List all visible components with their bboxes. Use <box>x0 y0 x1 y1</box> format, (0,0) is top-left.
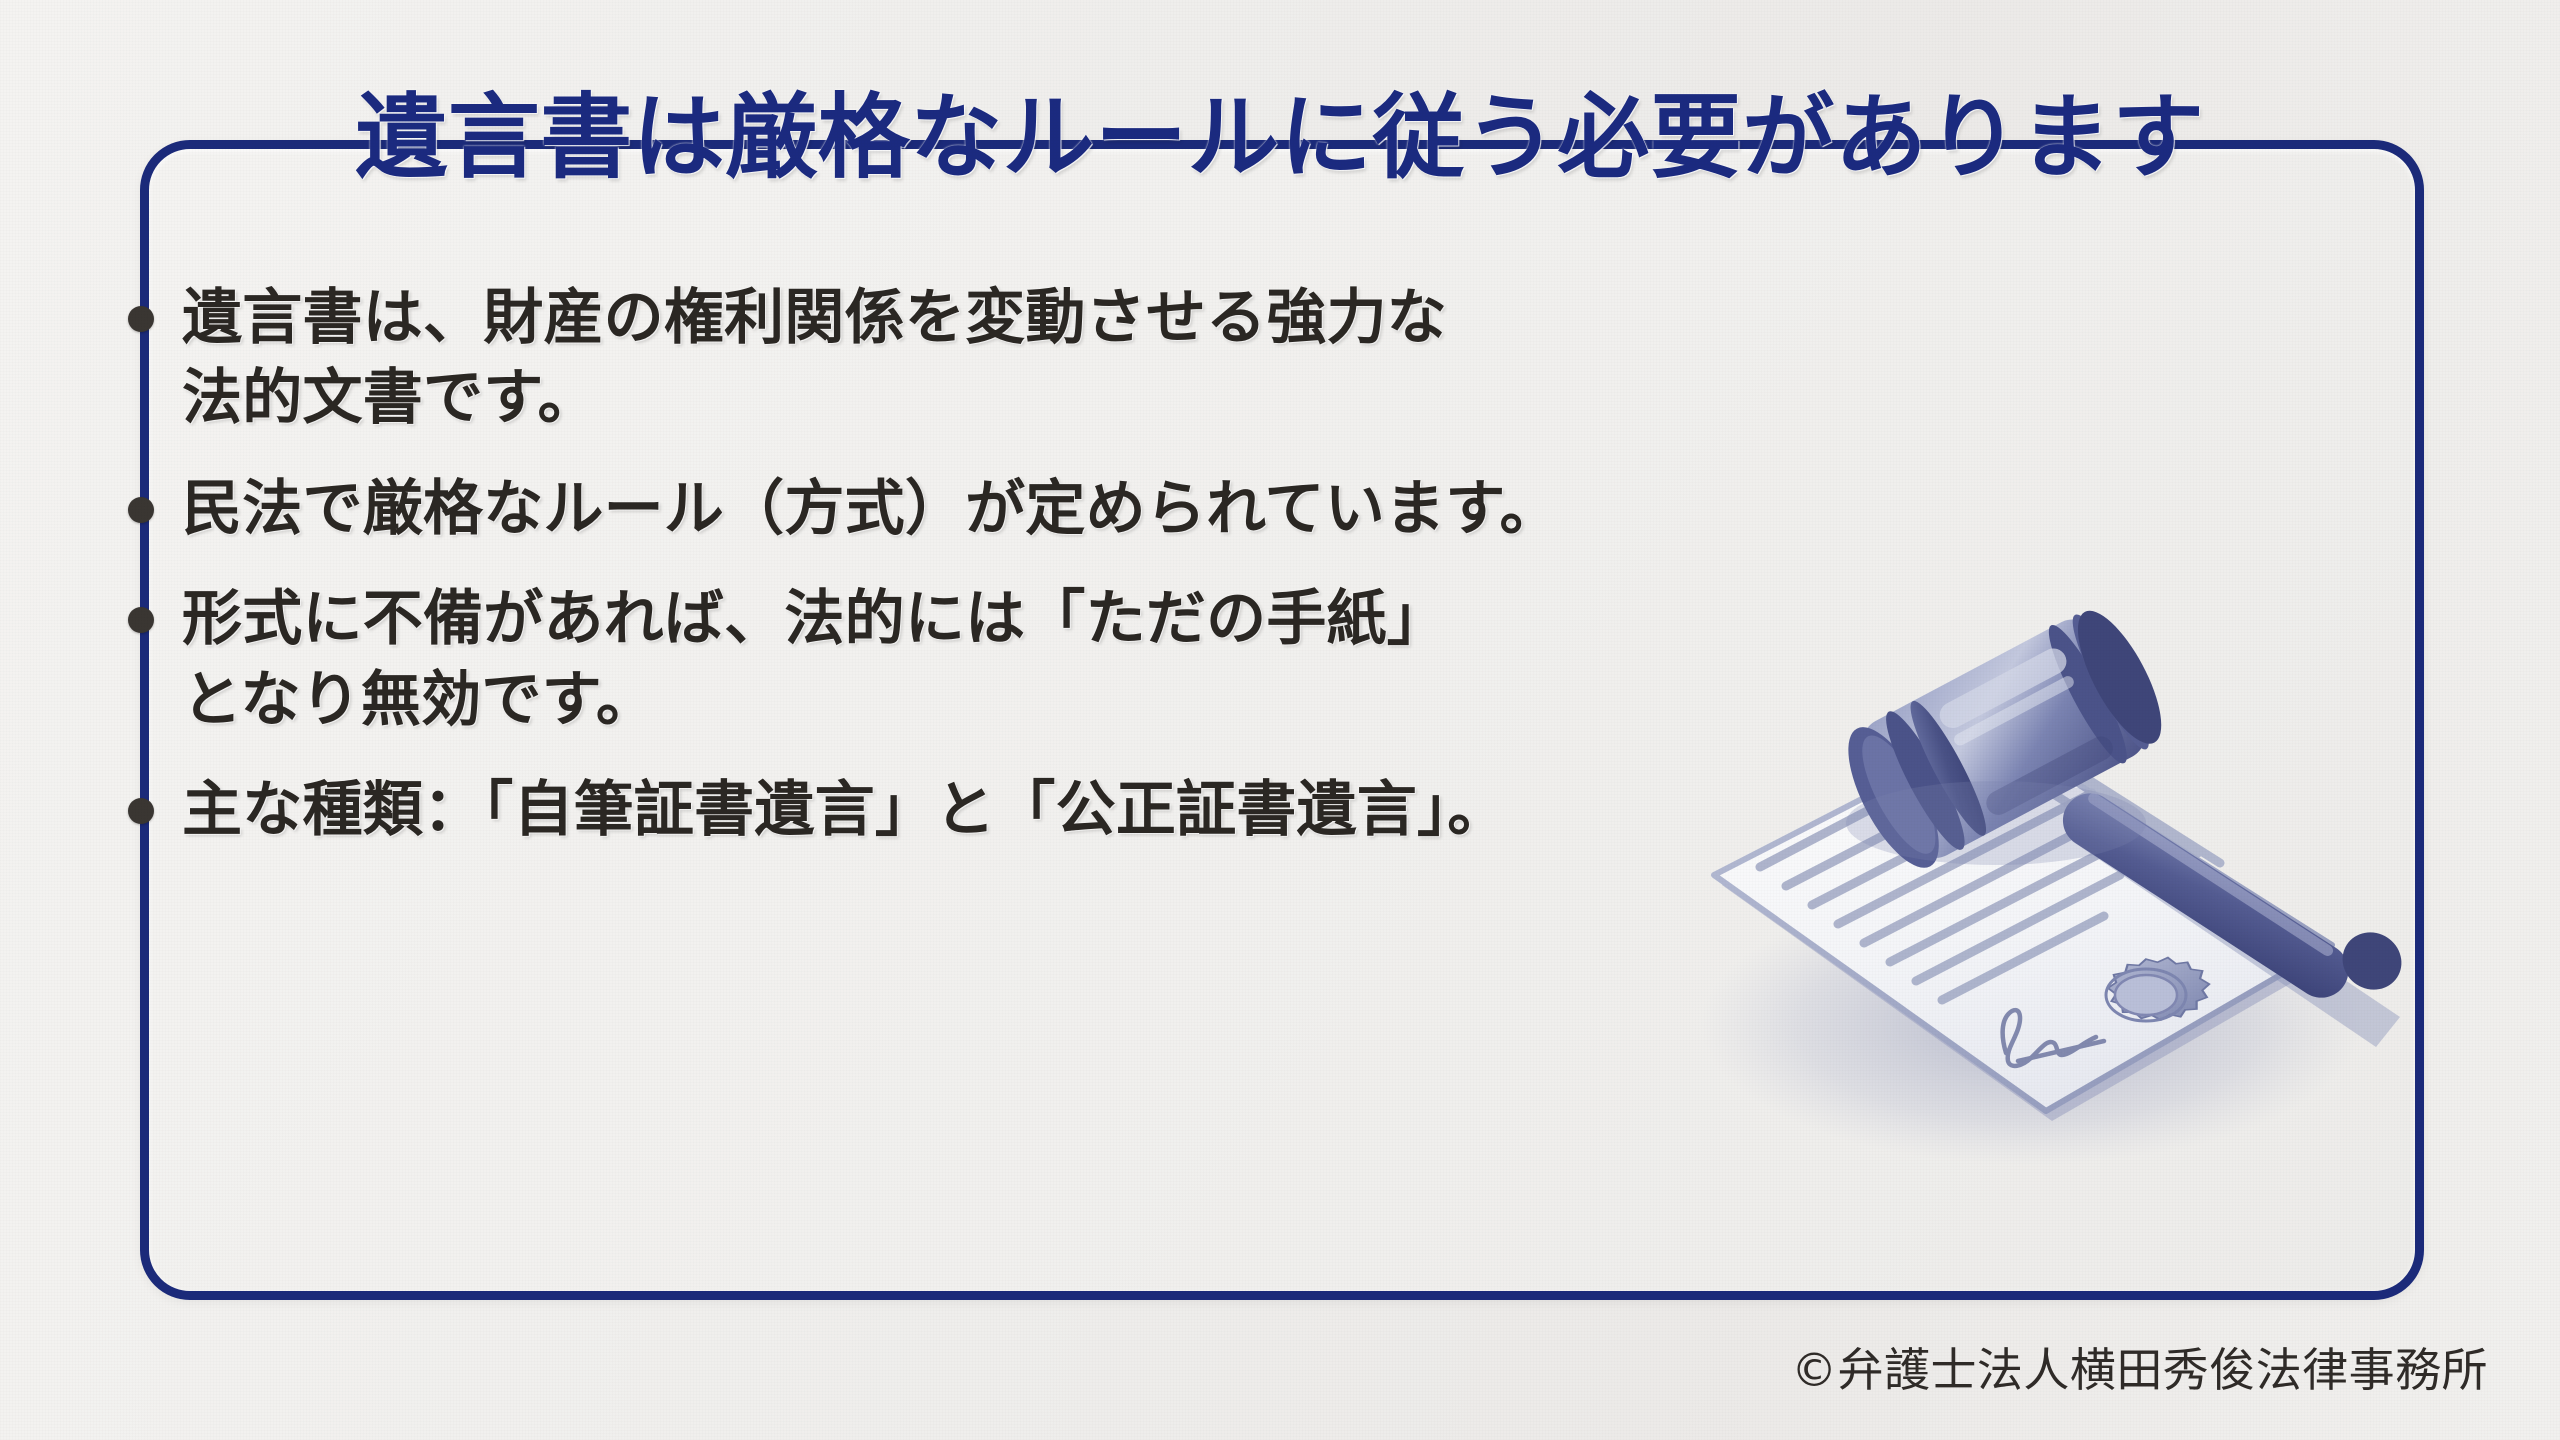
slide-canvas: 遺言書は厳格なルールに従う必要があります 遺言書は、財産の権利関係を変動させる強… <box>0 0 2560 1440</box>
slide-title: 遺言書は厳格なルールに従う必要があります <box>0 88 2560 187</box>
list-item-line: 形式に不備があれば、法的には「ただの手紙」 <box>182 579 1447 659</box>
list-item: 民法で厳格なルール（方式）が定められています。 <box>128 469 2128 549</box>
copyright-credit: ©弁護士法人横田秀俊法律事務所 <box>1791 1334 2488 1400</box>
list-item-text: 民法で厳格なルール（方式）が定められています。 <box>182 469 1560 549</box>
list-item-line: 民法で厳格なルール（方式）が定められています。 <box>182 469 1560 549</box>
list-item-text: 形式に不備があれば、法的には「ただの手紙」 となり無効です。 <box>182 579 1447 740</box>
bullet-dot-icon <box>128 306 154 332</box>
bullet-list: 遺言書は、財産の権利関係を変動させる強力な 法的文書です。 民法で厳格なルール（… <box>128 278 2128 880</box>
list-item-line: 法的文書です。 <box>182 358 1447 438</box>
list-item: 主な種類：「自筆証書遺言」と「公正証書遺言」。 <box>128 770 2128 850</box>
list-item-text: 遺言書は、財産の権利関係を変動させる強力な 法的文書です。 <box>182 278 1447 439</box>
bullet-dot-icon <box>128 798 154 824</box>
list-item-text: 主な種類：「自筆証書遺言」と「公正証書遺言」。 <box>182 770 1508 850</box>
list-item: 形式に不備があれば、法的には「ただの手紙」 となり無効です。 <box>128 579 2128 740</box>
list-item-line: となり無効です。 <box>182 660 1447 740</box>
bullet-dot-icon <box>128 607 154 633</box>
bullet-dot-icon <box>128 497 154 523</box>
list-item-line: 遺言書は、財産の権利関係を変動させる強力な <box>182 278 1447 358</box>
list-item: 遺言書は、財産の権利関係を変動させる強力な 法的文書です。 <box>128 278 2128 439</box>
list-item-line: 主な種類：「自筆証書遺言」と「公正証書遺言」。 <box>182 770 1508 850</box>
